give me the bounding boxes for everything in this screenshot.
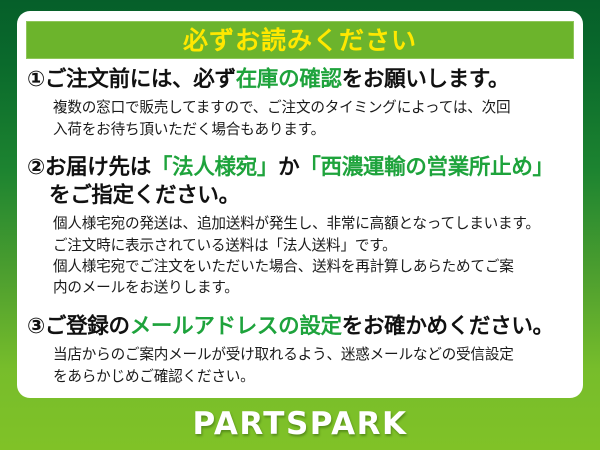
notice-item-3-heading-prefix: ご登録の [45, 314, 130, 339]
notice-item-1-heading-prefix: ご注文前には、必ず [45, 67, 236, 92]
notice-item-1-marker: ① [27, 67, 45, 92]
notice-item-1-heading-suffix: をお願いします。 [342, 67, 509, 92]
brand-name: PARTSPARK [192, 409, 407, 440]
notice-card: 必ずお読みください ①ご注文前には、必ず在庫の確認をお願いします。 複数の窓口で… [0, 0, 600, 450]
notice-item-2-body-line-4: 内のメールをお送りします。 [53, 277, 575, 298]
notice-item-3: ③ご登録のメールアドレスの設定をお確かめください。 当店からのご案内メールが受け… [17, 313, 583, 387]
notice-item-3-body-line-2: をあらかじめご確認ください。 [53, 366, 575, 387]
notice-item-3-marker: ③ [27, 314, 45, 339]
notice-item-3-heading-suffix: をお確かめください。 [342, 314, 554, 339]
notice-banner-title: 必ずお読みください [183, 28, 417, 53]
notice-item-1-body: 複数の窓口で販売してますので、ご注文のタイミングによっては、次回 入荷をお待ち頂… [27, 97, 575, 139]
notice-item-1-heading-highlight: 在庫の確認 [236, 67, 342, 92]
notice-item-3-body: 当店からのご案内メールが受け取れるよう、迷惑メールなどの受信設定 をあらかじめご… [27, 344, 575, 386]
notice-item-2-heading-highlight: 「法人様宛」 [151, 155, 278, 180]
notice-item-1-body-line-1: 複数の窓口で販売してますので、ご注文のタイミングによっては、次回 [53, 97, 575, 118]
notice-item-3-heading: ③ご登録のメールアドレスの設定をお確かめください。 [27, 313, 575, 341]
notice-item-1-heading: ①ご注文前には、必ず在庫の確認をお願いします。 [27, 66, 575, 94]
notice-item-2-body-line-3: 個人様宅宛でご注文をいただいた場合、送料を再計算しあらためてご案 [53, 256, 575, 277]
notice-item-2-heading-line-2: をご指定ください。 [27, 182, 575, 210]
notice-item-2-heading: ②お届け先は「法人様宛」か「西濃運輸の営業所止め」 [27, 154, 575, 182]
notice-item-2-body-line-1: 個人様宅宛の発送は、追加送料が発生し、非常に高額となってしまいます。 [53, 213, 575, 234]
notice-item-2-heading-highlight-2: 「西濃運輸の営業所止め」 [299, 155, 553, 180]
notice-item-1-body-line-2: 入荷をお待ち頂いただく場合もあります。 [53, 119, 575, 140]
notice-item-2-marker: ② [27, 155, 45, 180]
notice-items-list: ①ご注文前には、必ず在庫の確認をお願いします。 複数の窓口で販売してますので、ご… [17, 66, 583, 387]
notice-item-2-heading-prefix: お届け先は [45, 155, 151, 180]
notice-item-3-body-line-1: 当店からのご案内メールが受け取れるよう、迷惑メールなどの受信設定 [53, 344, 575, 365]
notice-footer: PARTSPARK [0, 398, 600, 450]
notice-item-2-body: 個人様宅宛の発送は、追加送料が発生し、非常に高額となってしまいます。 ご注文時に… [27, 213, 575, 298]
notice-banner: 必ずお読みください [26, 21, 574, 59]
notice-item-2: ②お届け先は「法人様宛」か「西濃運輸の営業所止め」 をご指定ください。 個人様宅… [17, 154, 583, 298]
notice-item-1: ①ご注文前には、必ず在庫の確認をお願いします。 複数の窓口で販売してますので、ご… [17, 66, 583, 140]
notice-item-3-heading-highlight: メールアドレスの設定 [130, 314, 342, 339]
notice-panel: 必ずお読みください ①ご注文前には、必ず在庫の確認をお願いします。 複数の窓口で… [17, 11, 583, 398]
notice-item-2-heading-middle: か [278, 155, 299, 180]
notice-item-2-body-line-2: ご注文時に表示されている送料は「法人送料」です。 [53, 235, 575, 256]
